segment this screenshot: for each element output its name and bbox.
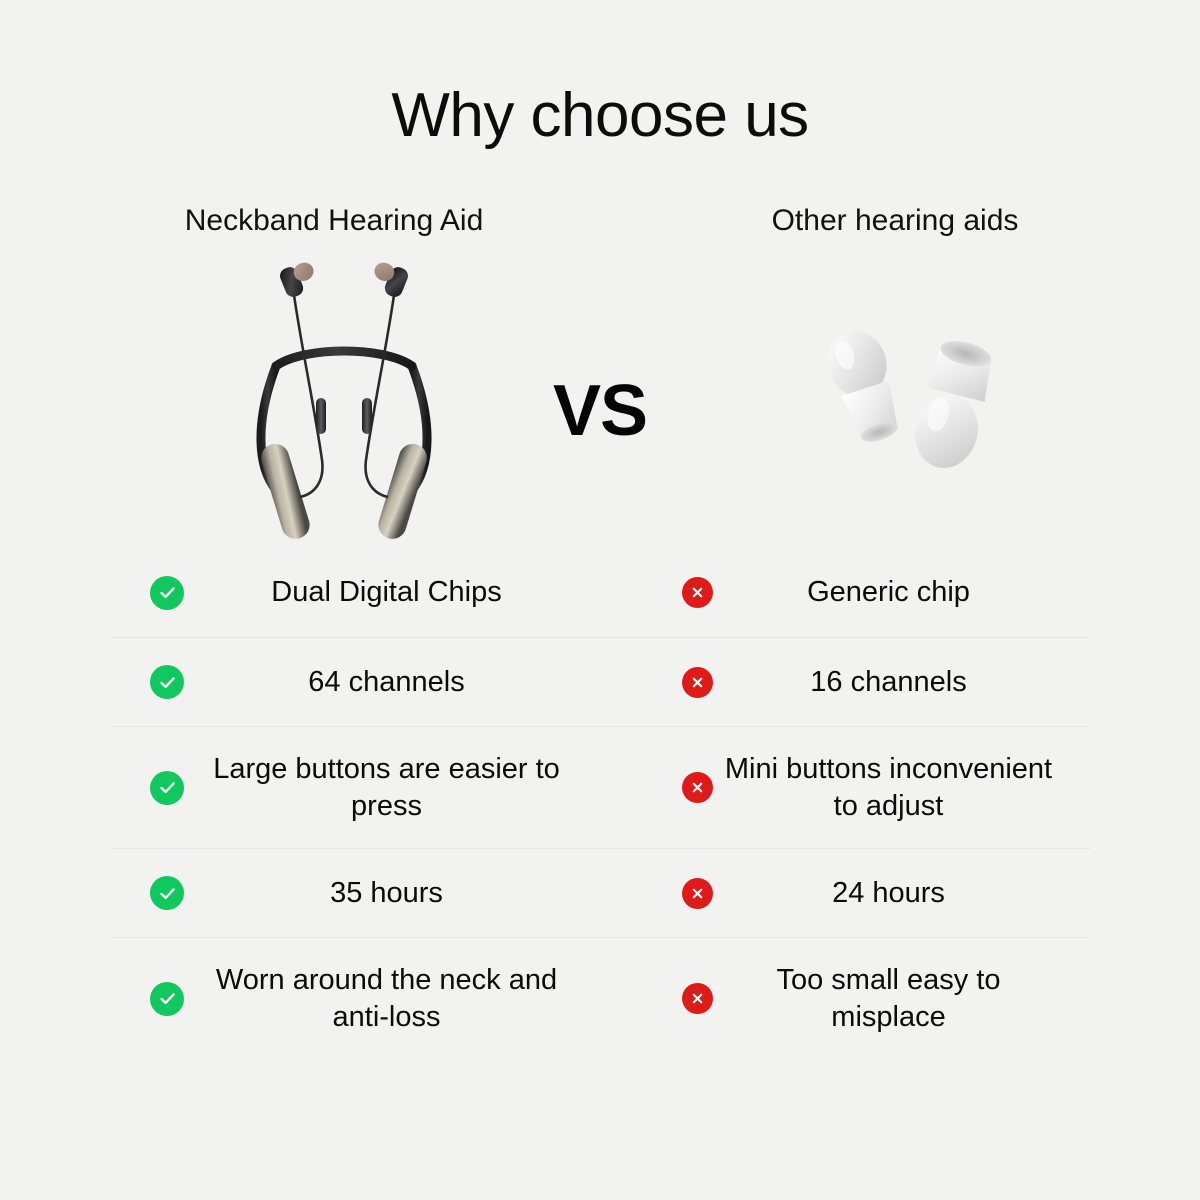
- comparison-table: Dual Digital Chips Generic chip 64 chann…: [112, 548, 1090, 1059]
- cross-circle-icon: [682, 577, 713, 608]
- page-title: Why choose us: [0, 82, 1200, 150]
- cross-circle-icon: [682, 667, 713, 698]
- table-row: 35 hours 24 hours: [112, 848, 1090, 937]
- cross-circle-icon: [682, 878, 713, 909]
- feature-label-right: Mini buttons inconvenient to adjust: [713, 751, 1090, 825]
- table-row: 64 channels 16 channels: [112, 637, 1090, 726]
- table-row: Dual Digital Chips Generic chip: [112, 548, 1090, 637]
- check-circle-icon: [150, 665, 184, 699]
- column-header-right: Other hearing aids: [660, 203, 1130, 239]
- vs-label: VS: [0, 370, 1200, 452]
- cross-circle-icon: [682, 772, 713, 803]
- check-circle-icon: [150, 771, 184, 805]
- feature-label-right: 16 channels: [713, 664, 1090, 701]
- check-circle-icon: [150, 576, 184, 610]
- feature-label-left: Worn around the neck and anti-loss: [184, 962, 617, 1036]
- product-images: VS: [0, 252, 1200, 547]
- check-circle-icon: [150, 876, 184, 910]
- feature-label-left: Dual Digital Chips: [184, 574, 617, 611]
- table-cell-left: Worn around the neck and anti-loss: [112, 938, 617, 1059]
- feature-label-right: 24 hours: [713, 875, 1090, 912]
- table-cell-right: 16 channels: [617, 638, 1090, 726]
- comparison-infographic: Why choose us Neckband Hearing Aid Other…: [0, 0, 1200, 1200]
- feature-label-left: 35 hours: [184, 875, 617, 912]
- table-cell-left: 64 channels: [112, 638, 617, 726]
- column-header-left: Neckband Hearing Aid: [112, 203, 556, 239]
- table-cell-left: Dual Digital Chips: [112, 548, 617, 637]
- table-row: Large buttons are easier to press Mini b…: [112, 726, 1090, 848]
- table-cell-right: Too small easy to misplace: [617, 938, 1090, 1059]
- table-cell-right: Generic chip: [617, 548, 1090, 637]
- table-row: Worn around the neck and anti-loss Too s…: [112, 937, 1090, 1059]
- table-cell-right: Mini buttons inconvenient to adjust: [617, 727, 1090, 848]
- table-cell-left: Large buttons are easier to press: [112, 727, 617, 848]
- in-ear-hearing-aids-image: [812, 314, 1012, 489]
- cross-circle-icon: [682, 983, 713, 1014]
- feature-label-right: Too small easy to misplace: [713, 962, 1090, 1036]
- table-cell-left: 35 hours: [112, 849, 617, 937]
- feature-label-right: Generic chip: [713, 574, 1090, 611]
- feature-label-left: Large buttons are easier to press: [184, 751, 617, 825]
- table-cell-right: 24 hours: [617, 849, 1090, 937]
- feature-label-left: 64 channels: [184, 664, 617, 701]
- check-circle-icon: [150, 982, 184, 1016]
